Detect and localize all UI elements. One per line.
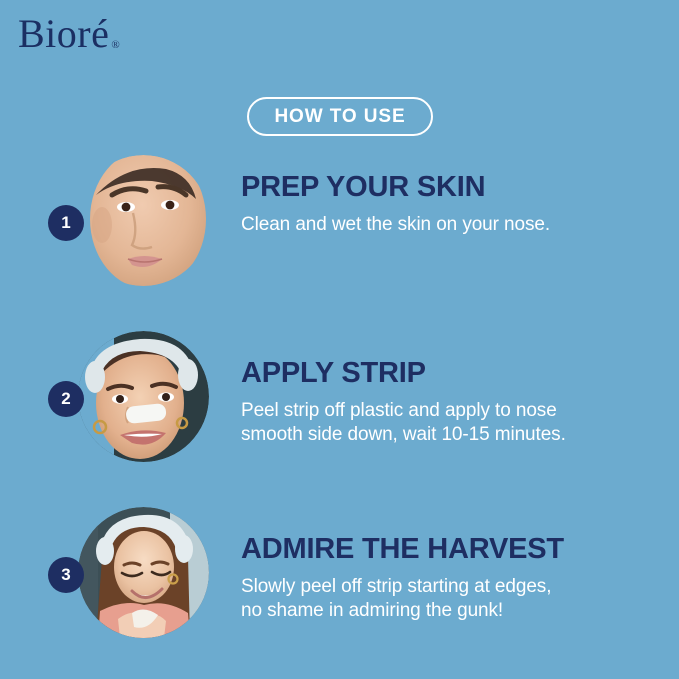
step-description: Slowly peel off strip starting at edges,… bbox=[241, 575, 661, 624]
step-title: APPLY STRIP bbox=[241, 358, 661, 390]
step-text-1: PREP YOUR SKIN Clean and wet the skin on… bbox=[241, 172, 661, 237]
step-media-2: 2 bbox=[78, 331, 209, 462]
registered-trademark-icon: ® bbox=[111, 39, 119, 51]
step-item: 2 APPLY STRIP Peel strip off plastic and… bbox=[0, 328, 679, 504]
step-number-badge: 2 bbox=[48, 381, 84, 417]
step-number-badge: 1 bbox=[48, 205, 84, 241]
step-title: PREP YOUR SKIN bbox=[241, 172, 661, 204]
photo-woman-holding-used-strip bbox=[78, 507, 209, 638]
brand-logo: Bioré ® bbox=[18, 14, 120, 54]
how-to-use-label: HOW TO USE bbox=[274, 106, 405, 128]
step-media-1: 1 bbox=[78, 155, 209, 286]
step-text-3: ADMIRE THE HARVEST Slowly peel off strip… bbox=[241, 534, 661, 624]
photo-woman-nose-strip-applied bbox=[78, 331, 209, 462]
step-item: 3 ADMIRE THE HARVEST Slowly peel off str… bbox=[0, 504, 679, 679]
step-media-3: 3 bbox=[78, 507, 209, 638]
step-text-2: APPLY STRIP Peel strip off plastic and a… bbox=[241, 358, 661, 448]
step-title: ADMIRE THE HARVEST bbox=[241, 534, 661, 566]
step-number-badge: 3 bbox=[48, 557, 84, 593]
step-item: 1 PREP YOUR SKIN Clean and wet the skin … bbox=[0, 152, 679, 328]
step-description: Peel strip off plastic and apply to nose… bbox=[241, 399, 661, 448]
how-to-use-badge: HOW TO USE bbox=[247, 97, 433, 136]
step-description: Clean and wet the skin on your nose. bbox=[241, 213, 661, 237]
brand-logo-text: Bioré bbox=[18, 14, 109, 54]
photo-woman-clean-face bbox=[78, 155, 209, 286]
steps-list: 1 PREP YOUR SKIN Clean and wet the skin … bbox=[0, 152, 679, 679]
